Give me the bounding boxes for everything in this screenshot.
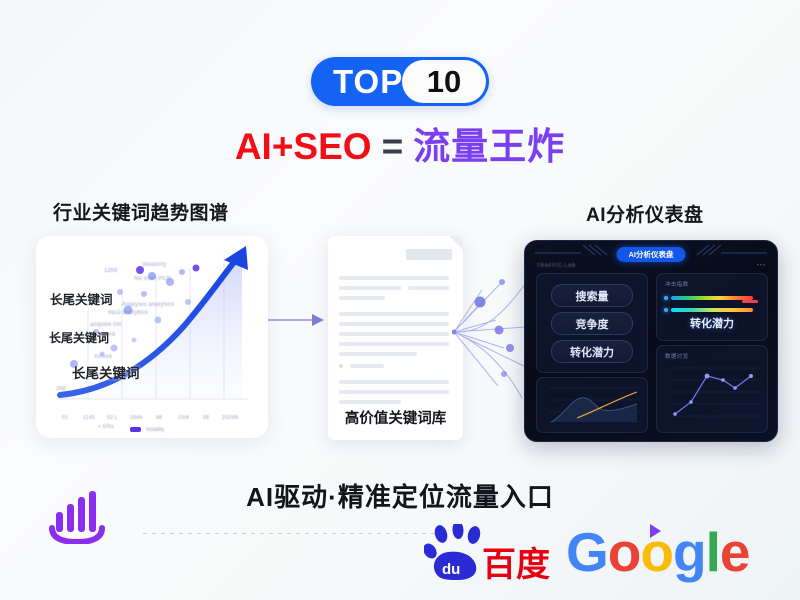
section-label-trend: 行业关键词趋势图谱	[53, 198, 229, 225]
baidu-cn-text: 百度	[482, 546, 550, 582]
axis-sublabel: + Efits	[98, 424, 114, 430]
google-letter: g	[673, 521, 706, 583]
divider-dashed	[143, 533, 443, 534]
ai-dashboard-panel: AI分析仪表盘 TRAFFIC-LAB ••• 搜索量 竞争度 转化潜力 冲击指…	[524, 240, 778, 442]
gradient-marker	[664, 308, 668, 312]
baidu-du-text: du	[442, 561, 460, 578]
panel-title: 冲击指数	[665, 280, 689, 288]
flow-arrow-icon	[268, 312, 324, 328]
doc-header-block	[406, 249, 452, 260]
trend-blur-label: Active	[94, 354, 112, 360]
axis-tick: 08	[203, 415, 209, 421]
metrics-panel: 搜索量 竞争度 转化潜力	[536, 273, 648, 373]
legend-label: Volatility	[146, 427, 164, 433]
top-rank-badge: TOP 10	[311, 57, 489, 106]
title-equals: =	[382, 126, 404, 167]
document-label: 高价值关键词库	[328, 407, 463, 428]
trend-blur-label: acquire On	[90, 322, 121, 328]
dashboard-menu-icon[interactable]: •••	[757, 263, 766, 269]
trend-blur-label: Volatility	[142, 262, 167, 268]
keyword-label: 长尾关键词	[50, 289, 113, 308]
section-label-dashboard: AI分析仪表盘	[586, 200, 704, 227]
trend-blur-label: SEO analytics	[108, 310, 148, 316]
page-fold-icon	[449, 236, 463, 250]
area-chart-svg	[537, 378, 647, 432]
keyword-label: 长尾关键词	[72, 362, 140, 382]
axis-tick: 48	[156, 415, 162, 421]
axis-tick: 10/4	[178, 415, 189, 421]
bottom-claim: AI驱动·精准定位流量入口	[0, 477, 800, 514]
top-badge-word: TOP	[333, 65, 403, 98]
conversion-potential-text: 转化潜力	[657, 315, 767, 331]
slide-canvas: TOP 10 AI+SEO=流量王炸 行业关键词趋势图谱 AI分析仪表盘	[0, 0, 800, 600]
google-letter: G	[566, 521, 608, 583]
area-chart-panel	[536, 377, 648, 433]
keyword-label: 长尾关键词	[49, 329, 109, 346]
legend-swatch	[130, 427, 141, 432]
metric-pill-search-volume[interactable]: 搜索量	[551, 284, 633, 307]
panel-title: 数据讨览	[665, 352, 689, 360]
impact-index-panel: 冲击指数 转化潜力	[656, 273, 768, 341]
page-title: AI+SEO=流量王炸	[0, 128, 800, 165]
axis-tick: 1145	[83, 415, 95, 421]
impact-gradient-bar	[671, 296, 753, 300]
dashboard-brand: TRAFFIC-LAB	[537, 263, 576, 269]
axis-tick: 01	[62, 415, 68, 421]
trend-blur-label: 350	[56, 386, 66, 392]
axis-tick: 02.L	[107, 415, 118, 421]
top-badge-number: 10	[402, 60, 486, 103]
trend-blur-label: No start PCR	[134, 276, 171, 282]
keyword-library-document: 高价值关键词库	[328, 236, 463, 440]
bar-chart-icon	[48, 486, 110, 544]
impact-gradient-bar	[671, 308, 753, 312]
line-chart-panel: 数据讨览	[656, 345, 768, 433]
title-ai-seo: AI+SEO	[235, 126, 372, 167]
trend-blur-label: Analysis analytics	[122, 302, 174, 308]
play-triangle-icon	[650, 524, 661, 538]
title-traffic: 流量王炸	[413, 126, 565, 167]
google-letter: e	[720, 521, 750, 583]
metric-pill-competition[interactable]: 竞争度	[551, 312, 633, 335]
google-letter: o	[608, 521, 641, 583]
axis-tick: 2024N	[222, 415, 238, 421]
keyword-trend-card: Volatility No start PCR Analysis analyti…	[36, 236, 268, 438]
baidu-logo: du 百度	[424, 524, 564, 582]
gradient-marker	[664, 296, 668, 300]
dashboard-header-deco	[525, 241, 777, 263]
axis-tick: 1844	[130, 415, 142, 421]
alert-tag	[742, 300, 758, 303]
google-letter: l	[706, 521, 720, 583]
trend-blur-label: 1200	[104, 268, 117, 274]
metric-pill-conversion[interactable]: 转化潜力	[551, 340, 633, 363]
